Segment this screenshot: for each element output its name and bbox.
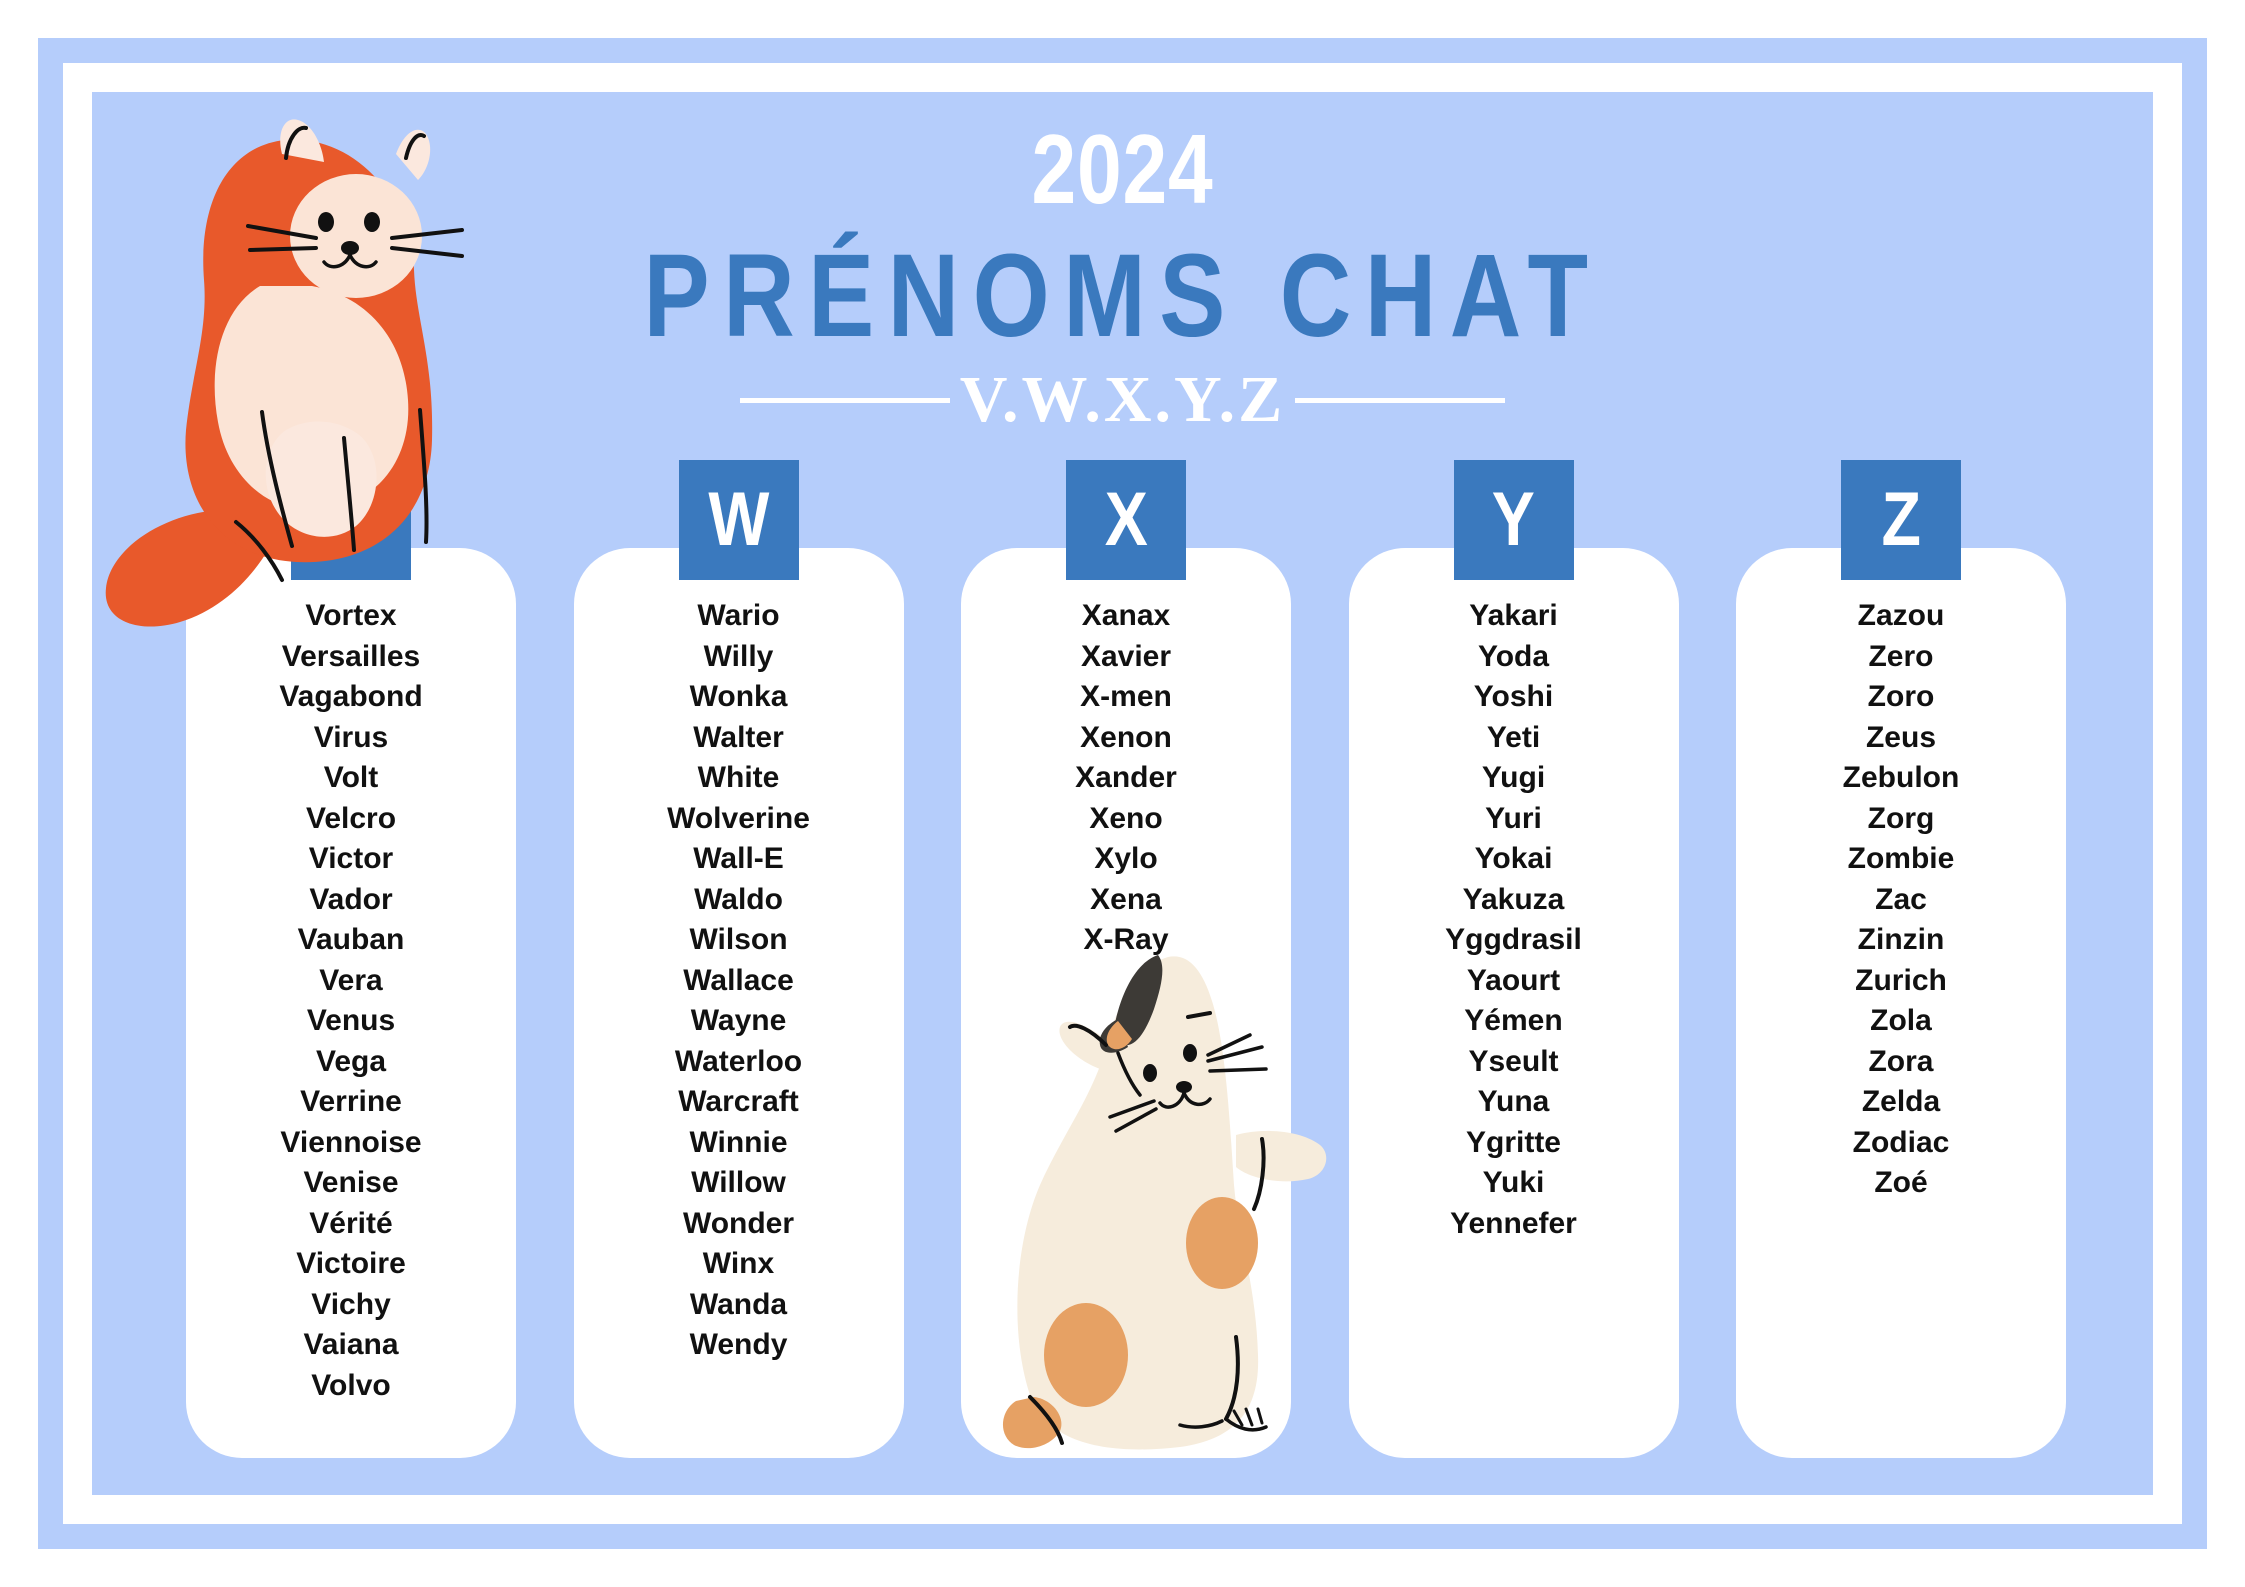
letter-badge-z[interactable]: Z: [1841, 460, 1961, 580]
list-item: Wanda: [574, 1285, 904, 1326]
name-list-y: YakariYodaYoshiYetiYugiYuriYokaiYakuzaYg…: [1349, 596, 1679, 1244]
column-x: XanaxXavierX-menXenonXanderXenoXyloXenaX…: [961, 548, 1291, 1458]
list-item: Wario: [574, 596, 904, 637]
list-item: Wendy: [574, 1325, 904, 1366]
list-item: Vérité: [186, 1204, 516, 1245]
list-item: Victoire: [186, 1244, 516, 1285]
list-item: Virus: [186, 718, 516, 759]
list-item: Verrine: [186, 1082, 516, 1123]
letter-badge-label-w: W: [708, 482, 769, 558]
list-item: Zebulon: [1736, 758, 2066, 799]
list-item: Volt: [186, 758, 516, 799]
list-item: Winx: [574, 1244, 904, 1285]
list-item: White: [574, 758, 904, 799]
letter-badge-label-y: Y: [1492, 482, 1535, 558]
list-item: Vagabond: [186, 677, 516, 718]
list-item: Xenon: [961, 718, 1291, 759]
list-item: Vera: [186, 961, 516, 1002]
letter-columns: VortexVersaillesVagabondVirusVoltVelcroV…: [186, 548, 2066, 1458]
list-item: X-Ray: [961, 920, 1291, 961]
list-item: Zoé: [1736, 1163, 2066, 1204]
name-list-z: ZazouZeroZoroZeusZebulonZorgZombieZacZin…: [1736, 596, 2066, 1204]
page-title: PRÉNOMS CHAT: [257, 236, 1988, 356]
name-list-v: VortexVersaillesVagabondVirusVoltVelcroV…: [186, 596, 516, 1406]
list-item: Yokai: [1349, 839, 1679, 880]
list-item: Xeno: [961, 799, 1291, 840]
list-item: Vega: [186, 1042, 516, 1083]
list-item: Yoda: [1349, 637, 1679, 678]
list-item: Vichy: [186, 1285, 516, 1326]
year-label: 2024: [277, 120, 1967, 218]
rule-right: [1295, 398, 1505, 403]
list-item: Yuri: [1349, 799, 1679, 840]
list-item: Zinzin: [1736, 920, 2066, 961]
list-item: Wolverine: [574, 799, 904, 840]
list-item: Yaourt: [1349, 961, 1679, 1002]
list-item: Yseult: [1349, 1042, 1679, 1083]
list-item: Zombie: [1736, 839, 2066, 880]
list-item: Zola: [1736, 1001, 2066, 1042]
name-list-x: XanaxXavierX-menXenonXanderXenoXyloXenaX…: [961, 596, 1291, 961]
column-v: VortexVersaillesVagabondVirusVoltVelcroV…: [186, 548, 516, 1458]
list-item: Victor: [186, 839, 516, 880]
letter-badge-label-z: Z: [1881, 482, 1920, 558]
list-item: Xena: [961, 880, 1291, 921]
name-card-x: XanaxXavierX-menXenonXanderXenoXyloXenaX…: [961, 548, 1291, 1458]
list-item: Wall-E: [574, 839, 904, 880]
list-item: Yoshi: [1349, 677, 1679, 718]
letter-badge-x[interactable]: X: [1066, 460, 1186, 580]
letter-badge-v[interactable]: V: [291, 460, 411, 580]
column-w: WarioWillyWonkaWalterWhiteWolverineWall-…: [574, 548, 904, 1458]
list-item: Ygritte: [1349, 1123, 1679, 1164]
name-card-w: WarioWillyWonkaWalterWhiteWolverineWall-…: [574, 548, 904, 1458]
list-item: Waldo: [574, 880, 904, 921]
list-item: Winnie: [574, 1123, 904, 1164]
list-item: Zodiac: [1736, 1123, 2066, 1164]
list-item: Xylo: [961, 839, 1291, 880]
list-item: X-men: [961, 677, 1291, 718]
letter-badge-label-x: X: [1104, 482, 1147, 558]
list-item: Yakari: [1349, 596, 1679, 637]
list-item: Zac: [1736, 880, 2066, 921]
list-item: Xavier: [961, 637, 1291, 678]
list-item: Xanax: [961, 596, 1291, 637]
list-item: Zoro: [1736, 677, 2066, 718]
list-item: Zero: [1736, 637, 2066, 678]
name-card-v: VortexVersaillesVagabondVirusVoltVelcroV…: [186, 548, 516, 1458]
poster-header: 2024 PRÉNOMS CHAT V.W.X.Y.Z: [92, 120, 2153, 438]
list-item: Versailles: [186, 637, 516, 678]
list-item: Yuna: [1349, 1082, 1679, 1123]
list-item: Wilson: [574, 920, 904, 961]
name-list-w: WarioWillyWonkaWalterWhiteWolverineWall-…: [574, 596, 904, 1366]
list-item: Yggdrasil: [1349, 920, 1679, 961]
list-item: Velcro: [186, 799, 516, 840]
list-item: Walter: [574, 718, 904, 759]
list-item: Viennoise: [186, 1123, 516, 1164]
name-card-z: ZazouZeroZoroZeusZebulonZorgZombieZacZin…: [1736, 548, 2066, 1458]
list-item: Zurich: [1736, 961, 2066, 1002]
list-item: Wayne: [574, 1001, 904, 1042]
list-item: Vador: [186, 880, 516, 921]
list-item: Wallace: [574, 961, 904, 1002]
list-item: Willy: [574, 637, 904, 678]
rule-left: [740, 398, 950, 403]
list-item: Venus: [186, 1001, 516, 1042]
list-item: Yakuza: [1349, 880, 1679, 921]
list-item: Yuki: [1349, 1163, 1679, 1204]
letter-badge-w[interactable]: W: [679, 460, 799, 580]
list-item: Wonder: [574, 1204, 904, 1245]
list-item: Warcraft: [574, 1082, 904, 1123]
list-item: Vaiana: [186, 1325, 516, 1366]
letter-badge-y[interactable]: Y: [1454, 460, 1574, 580]
list-item: Zelda: [1736, 1082, 2066, 1123]
list-item: Xander: [961, 758, 1291, 799]
list-item: Vortex: [186, 596, 516, 637]
list-item: Yeti: [1349, 718, 1679, 759]
list-item: Yugi: [1349, 758, 1679, 799]
column-y: YakariYodaYoshiYetiYugiYuriYokaiYakuzaYg…: [1349, 548, 1679, 1458]
poster-root: 2024 PRÉNOMS CHAT V.W.X.Y.Z VortexVersai…: [0, 0, 2245, 1587]
list-item: Zora: [1736, 1042, 2066, 1083]
list-item: Volvo: [186, 1366, 516, 1407]
list-item: Zazou: [1736, 596, 2066, 637]
list-item: Zeus: [1736, 718, 2066, 759]
list-item: Waterloo: [574, 1042, 904, 1083]
column-z: ZazouZeroZoroZeusZebulonZorgZombieZacZin…: [1736, 548, 2066, 1458]
list-item: Zorg: [1736, 799, 2066, 840]
subtitle-row: V.W.X.Y.Z: [92, 362, 2153, 438]
list-item: Willow: [574, 1163, 904, 1204]
list-item: Venise: [186, 1163, 516, 1204]
list-item: Vauban: [186, 920, 516, 961]
list-item: Yémen: [1349, 1001, 1679, 1042]
list-item: Wonka: [574, 677, 904, 718]
subtitle-label: V.W.X.Y.Z: [956, 362, 1289, 438]
name-card-y: YakariYodaYoshiYetiYugiYuriYokaiYakuzaYg…: [1349, 548, 1679, 1458]
letter-badge-label-v: V: [329, 482, 372, 558]
list-item: Yennefer: [1349, 1204, 1679, 1245]
